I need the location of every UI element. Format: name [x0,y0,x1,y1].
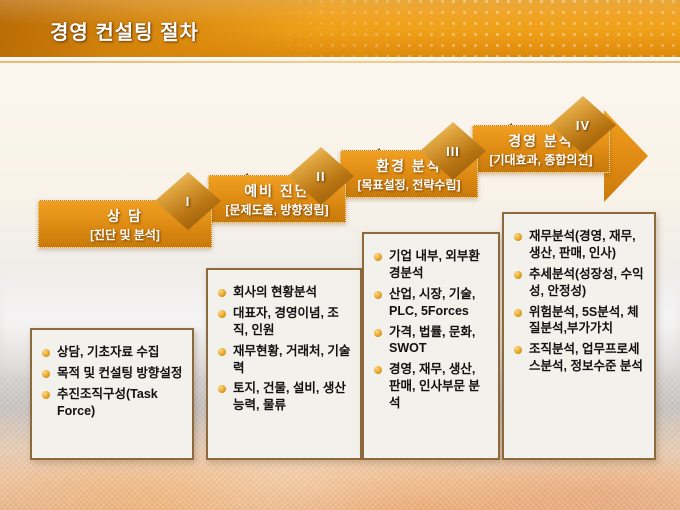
process-step-2-sublabel: [문제도출, 방향정립] [209,201,345,218]
process-step-1-numeral: I [186,194,191,209]
process-step-2-numeral: II [316,169,325,184]
list-item: 추세분석(성장성, 수익성, 안정성) [514,266,646,300]
detail-box-1: 상담, 기초자료 수집 목적 및 컨설팅 방향설정 추진조직구성(Task Fo… [30,328,194,460]
process-step-4-numeral: IV [576,118,590,133]
list-item: 산업, 시장, 기술, PLC, 5Forces [374,286,490,320]
detail-box-3: 기업 내부, 외부환경분석 산업, 시장, 기술, PLC, 5Forces 가… [362,232,500,460]
detail-box-3-list: 기업 내부, 외부환경분석 산업, 시장, 기술, PLC, 5Forces 가… [364,234,498,426]
list-item: 상담, 기초자료 수집 [42,344,184,361]
list-item: 가격, 법률, 문화, SWOT [374,324,490,358]
list-item: 목적 및 컨설팅 방향설정 [42,365,184,382]
process-step-3-sublabel: [목표설정, 전략수립] [341,176,477,193]
list-item: 회사의 현황분석 [218,284,352,301]
list-item: 조직분석, 업무프로세스분석, 정보수준 분석 [514,341,646,375]
list-item: 위험분석, 5S분석, 체질분석,부가가치 [514,304,646,338]
process-step-3-numeral: III [446,144,460,159]
list-item: 기업 내부, 외부환경분석 [374,248,490,282]
list-item: 대표자, 경영이념, 조직, 인원 [218,305,352,339]
detail-box-2: 회사의 현황분석 대표자, 경영이념, 조직, 인원 재무현황, 거래처, 기술… [206,268,362,460]
list-item: 추진조직구성(Task Force) [42,386,184,420]
list-item: 재무분석(경영, 재무, 생산, 판매, 인사) [514,228,646,262]
detail-box-2-list: 회사의 현황분석 대표자, 경영이념, 조직, 인원 재무현황, 거래처, 기술… [208,270,360,428]
slide-canvas: 경영 컨설팅 절차 경영 분석 [기대효과, 종합의견] IV 환경 분석 [목… [0,0,680,510]
detail-box-1-list: 상담, 기초자료 수집 목적 및 컨설팅 방향설정 추진조직구성(Task Fo… [32,330,192,434]
process-step-1-sublabel: [진단 및 분석] [39,226,211,243]
list-item: 재무현황, 거래처, 기술력 [218,343,352,377]
detail-box-4-list: 재무분석(경영, 재무, 생산, 판매, 인사) 추세분석(성장성, 수익성, … [504,214,654,389]
detail-box-4: 재무분석(경영, 재무, 생산, 판매, 인사) 추세분석(성장성, 수익성, … [502,212,656,460]
list-item: 토지, 건물, 설비, 생산능력, 물류 [218,380,352,414]
list-item: 경영, 재무, 생산, 판매, 인사부문 분석 [374,361,490,412]
process-step-4-sublabel: [기대효과, 종합의견] [473,151,609,168]
